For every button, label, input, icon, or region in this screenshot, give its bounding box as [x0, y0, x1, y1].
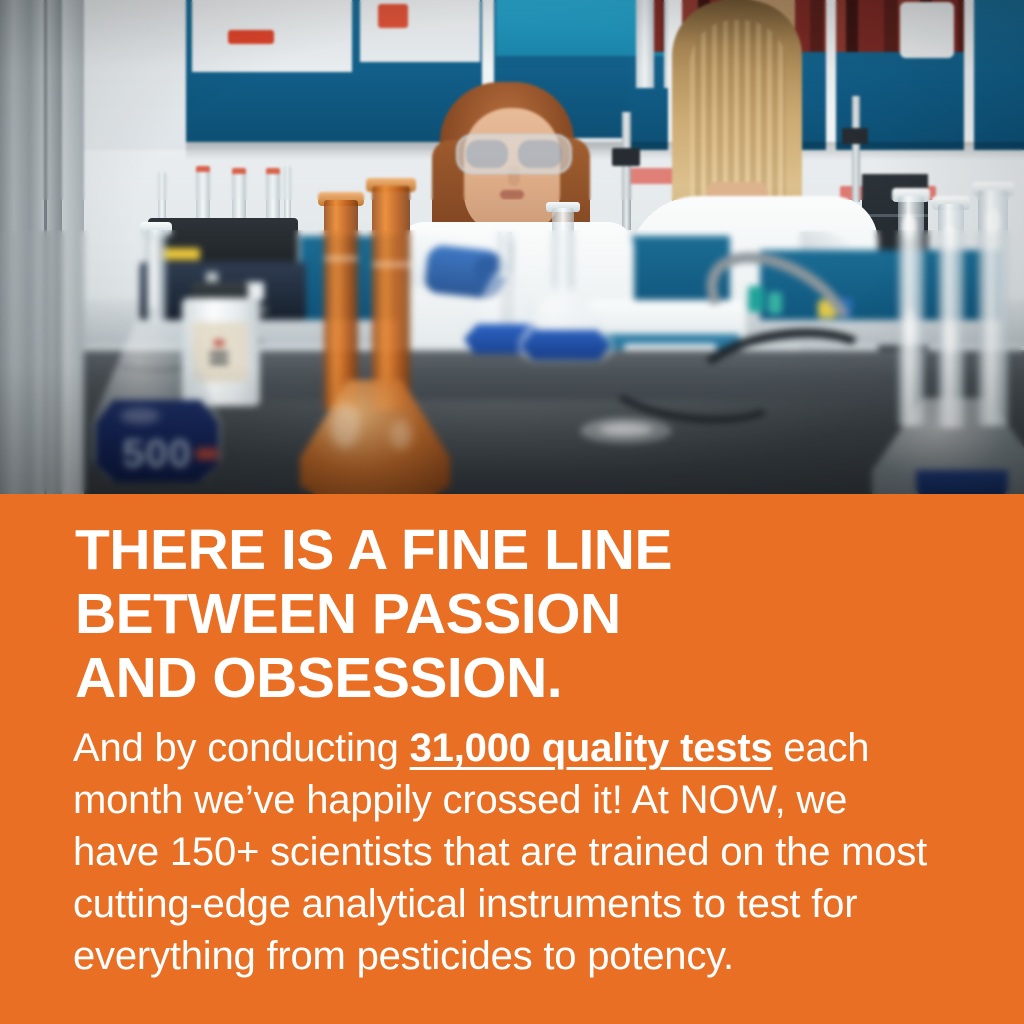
overhead-cabinet-far-right: [1000, 0, 1024, 150]
cabinet-white-bottle: [900, 2, 954, 58]
stirrer-rack-yellow-tag: [162, 248, 200, 260]
amber-flask-neck-1: [324, 200, 358, 410]
test-tube-3: [232, 170, 246, 220]
right-flask-highlight-2: [944, 226, 956, 250]
highlight-quality-tests: 31,000 quality tests: [410, 726, 773, 770]
goggles-lens-left: [466, 140, 508, 168]
bench-flask-neck: [552, 208, 574, 292]
amber-flask-highlight-2: [390, 420, 412, 450]
orange-text-panel: There is a fine line between passion and…: [0, 494, 1024, 1024]
scientist-center-mouth: [500, 190, 524, 199]
lab-stand-rod-1: [622, 112, 631, 230]
lab-photo: 500: [0, 0, 1024, 494]
cabinet-divider-3: [826, 0, 836, 150]
right-flask-highlight-1: [902, 214, 916, 240]
cabinet-divider-4: [964, 0, 974, 150]
right-flask-highlight-3: [986, 208, 1000, 236]
test-tube-2: [196, 168, 210, 220]
reagent-label-mark-2: [210, 352, 228, 356]
lab-stand-clamp-2: [842, 128, 868, 144]
right-flask-liquid: [916, 470, 1008, 494]
test-tube-cap-4: [266, 168, 280, 174]
test-tube-4: [266, 170, 280, 220]
test-tube-cap-3: [232, 168, 246, 174]
test-tube-1: [158, 172, 166, 220]
bench-flask-blue-liquid: [522, 330, 610, 360]
cabinet-red-label-2: [378, 4, 408, 28]
test-tube-5: [284, 166, 291, 220]
amber-flask-graduation-1: [324, 256, 358, 261]
test-tube-cap-2: [196, 166, 210, 172]
held-flask-neck: [498, 232, 512, 278]
lab-stand-rod-2: [852, 96, 860, 202]
body-copy: And by conducting 31,000 quality tests e…: [73, 722, 943, 982]
goggles-lens-right: [518, 140, 562, 168]
right-flask-highlight-4: [904, 308, 916, 348]
door-frame-seam: [44, 0, 47, 494]
volumetric-flask-neck: [146, 230, 166, 322]
reagent-label-mark-1: [214, 340, 224, 346]
flask-volume-label: 500: [96, 432, 218, 476]
amber-flask-graduation-2: [372, 262, 410, 267]
amber-flask-highlight-1: [330, 404, 360, 448]
cabinet-shadow: [186, 142, 1024, 160]
lab-stand-clamp-1: [612, 148, 640, 166]
cabinet-tube-1: [636, 0, 654, 88]
petri-dish-highlight: [600, 424, 652, 436]
volumetric-flask-highlight: [120, 408, 160, 424]
door-frame-column: [0, 0, 62, 494]
cabinet-red-label-1: [228, 30, 274, 44]
body-copy-before: And by conducting: [73, 726, 410, 770]
volumetric-flask-neck-highlight: [150, 238, 155, 308]
reagent-label-mark-3: [210, 360, 228, 364]
headline: There is a fine line between passion and…: [75, 518, 955, 710]
amber-flask-neck-2: [372, 186, 410, 410]
right-flask-highlight-5: [944, 320, 955, 356]
door-frame-column-inner: [62, 0, 84, 494]
poster-root: 500 There is a fine line between passion…: [0, 0, 1024, 1024]
